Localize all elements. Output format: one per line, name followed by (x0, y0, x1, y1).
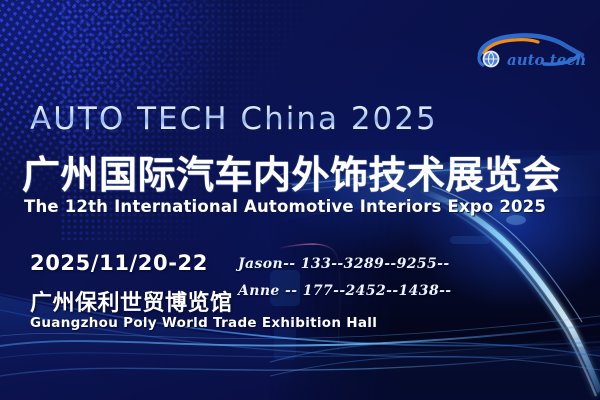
poster-text-content: AUTO TECH China 2025 广州国际汽车内外饰技术展览会 The … (0, 0, 600, 400)
venue-name-en: Guangzhou Poly World Trade Exhibition Ha… (30, 315, 377, 331)
english-subtitle: The 12th International Automotive Interi… (24, 197, 546, 216)
event-date: 2025/11/20-22 (30, 251, 208, 275)
venue-name-cn: 广州保利世贸博览馆 (30, 285, 233, 317)
contact-anne: Anne -- 177--2452--1438-- (238, 283, 452, 299)
chinese-title: 广州国际汽车内外饰技术展览会 (22, 144, 561, 199)
contact-jason: Jason-- 133--3289--9255-- (238, 256, 450, 272)
main-title: AUTO TECH China 2025 (30, 101, 438, 137)
auto-tech-expo-poster: auto tech AUTO TECH China 2025 广州国际汽车内外饰… (0, 0, 600, 400)
